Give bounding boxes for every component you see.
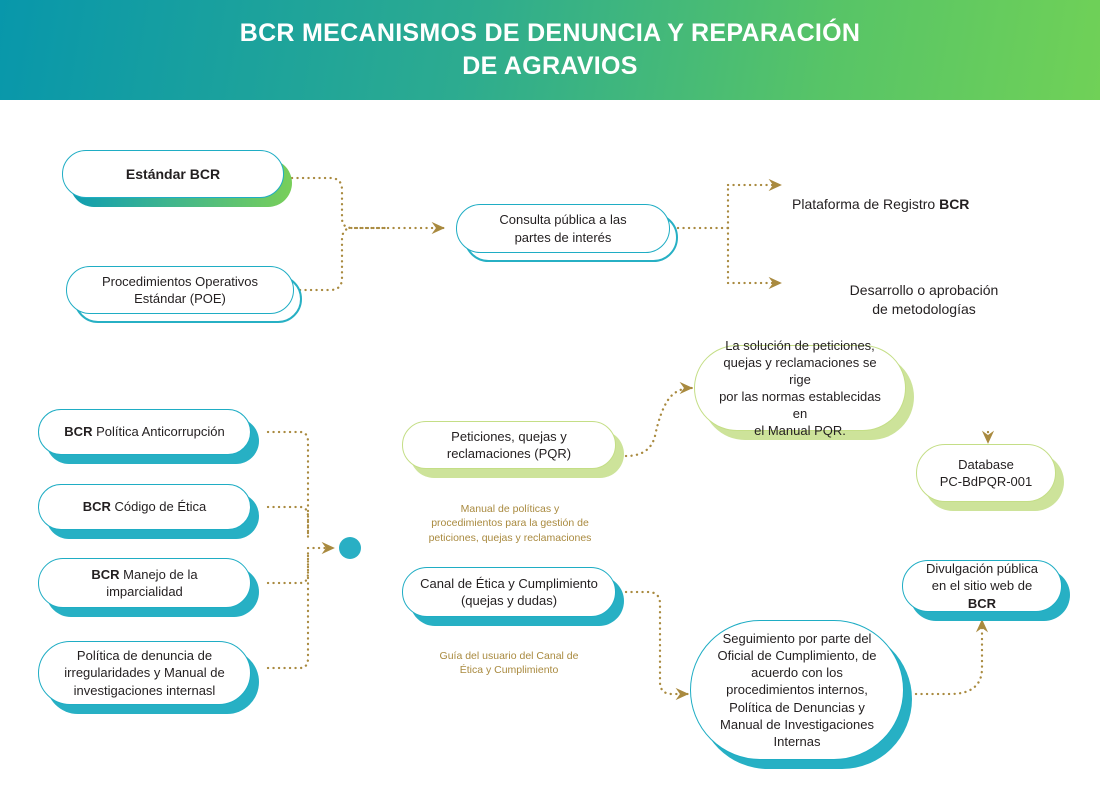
- connector-codigo-to-bus: [268, 507, 308, 538]
- caption-canal-guia: Guía del usuario del Canal de Ética y Cu…: [405, 634, 613, 678]
- node-database[interactable]: Database PC-BdPQR-001: [916, 444, 1056, 502]
- node-label: Database PC-BdPQR-001: [940, 456, 1032, 490]
- node-body: Database PC-BdPQR-001: [916, 444, 1056, 502]
- node-label: Política de denuncia de irregularidades …: [64, 647, 224, 698]
- connector-estandar-to-consulta: [292, 178, 386, 228]
- caption-text: Manual de políticas y procedimientos par…: [429, 503, 592, 544]
- connector-anticorrupcion-to-bus: [268, 432, 308, 538]
- node-body: BCR Manejo de la imparcialidad: [38, 558, 251, 608]
- connector-pqr-to-solucion: [626, 388, 692, 456]
- node-body: La solución de peticiones, quejas y recl…: [694, 345, 906, 431]
- node-estandar-bcr[interactable]: Estándar BCR: [62, 150, 284, 198]
- connector-seguimiento-to-divulgacion: [916, 620, 982, 694]
- node-label: Divulgación pública en el sitio web de: [926, 561, 1038, 593]
- node-label: Desarrollo o aprobación de metodologías: [850, 282, 999, 317]
- node-label: Plataforma de Registro: [792, 196, 939, 212]
- junction-dot-icon: [339, 537, 361, 559]
- connector-imparcialidad-to-bus: [268, 552, 308, 583]
- node-pqr[interactable]: Peticiones, quejas y reclamaciones (PQR): [402, 421, 616, 469]
- caption-pqr-manual: Manual de políticas y procedimientos par…: [400, 487, 620, 546]
- node-consulta-publica[interactable]: Consulta pública a las partes de interés: [456, 204, 670, 253]
- node-label: Peticiones, quejas y reclamaciones (PQR): [447, 428, 571, 462]
- node-body: Seguimiento por parte del Oficial de Cum…: [690, 620, 904, 760]
- node-body: BCR Código de Ética: [38, 484, 251, 530]
- node-label-emphasis: BCR: [939, 196, 969, 212]
- node-label-emphasis: BCR: [64, 424, 92, 439]
- node-body: Política de denuncia de irregularidades …: [38, 641, 251, 705]
- node-label: Canal de Ética y Cumplimiento (quejas y …: [420, 575, 598, 609]
- node-label: Política Anticorrupción: [92, 424, 224, 439]
- node-label: Código de Ética: [111, 499, 206, 514]
- caption-text: Guía del usuario del Canal de Ética y Cu…: [440, 650, 579, 677]
- node-label: Procedimientos Operativos Estándar (POE): [102, 273, 258, 307]
- node-body: Procedimientos Operativos Estándar (POE): [66, 266, 294, 314]
- node-politica-denuncia[interactable]: Política de denuncia de irregularidades …: [38, 641, 251, 705]
- node-plataforma-registro: Plataforma de Registro BCR: [792, 176, 1072, 214]
- node-label-emphasis: BCR: [968, 596, 996, 611]
- node-label: Seguimiento por parte del Oficial de Cum…: [718, 630, 877, 750]
- node-poe[interactable]: Procedimientos Operativos Estándar (POE): [66, 266, 294, 314]
- node-body: BCR Política Anticorrupción: [38, 409, 251, 455]
- connector-poe-to-consulta: [300, 228, 386, 290]
- node-label-emphasis: BCR: [91, 567, 119, 582]
- node-body: Peticiones, quejas y reclamaciones (PQR): [402, 421, 616, 469]
- node-label: Estándar BCR: [126, 165, 220, 183]
- node-seguimiento[interactable]: Seguimiento por parte del Oficial de Cum…: [690, 620, 904, 760]
- node-body: Estándar BCR: [62, 150, 284, 198]
- node-label: La solución de peticiones, quejas y recl…: [711, 337, 889, 440]
- node-body: Divulgación pública en el sitio web de B…: [902, 560, 1062, 612]
- diagram-canvas: Estándar BCR Procedimientos Operativos E…: [0, 0, 1100, 800]
- node-codigo-etica[interactable]: BCR Código de Ética: [38, 484, 251, 530]
- node-label: Consulta pública a las partes de interés: [499, 211, 626, 245]
- connector-denuncia-to-bus: [268, 552, 308, 668]
- node-politica-anticorrupcion[interactable]: BCR Política Anticorrupción: [38, 409, 251, 455]
- node-label-emphasis: BCR: [83, 499, 111, 514]
- node-label: Manejo de la imparcialidad: [106, 567, 197, 599]
- node-divulgacion[interactable]: Divulgación pública en el sitio web de B…: [902, 560, 1062, 612]
- node-manejo-imparcialidad[interactable]: BCR Manejo de la imparcialidad: [38, 558, 251, 608]
- node-solucion-pqr[interactable]: La solución de peticiones, quejas y recl…: [694, 345, 906, 431]
- connector-canal-to-seguimiento: [626, 592, 688, 694]
- node-body: Consulta pública a las partes de interés: [456, 204, 670, 253]
- node-body: Canal de Ética y Cumplimiento (quejas y …: [402, 567, 616, 617]
- node-canal-etica[interactable]: Canal de Ética y Cumplimiento (quejas y …: [402, 567, 616, 617]
- node-desarrollo-metodologias: Desarrollo o aprobación de metodologías: [792, 262, 1056, 319]
